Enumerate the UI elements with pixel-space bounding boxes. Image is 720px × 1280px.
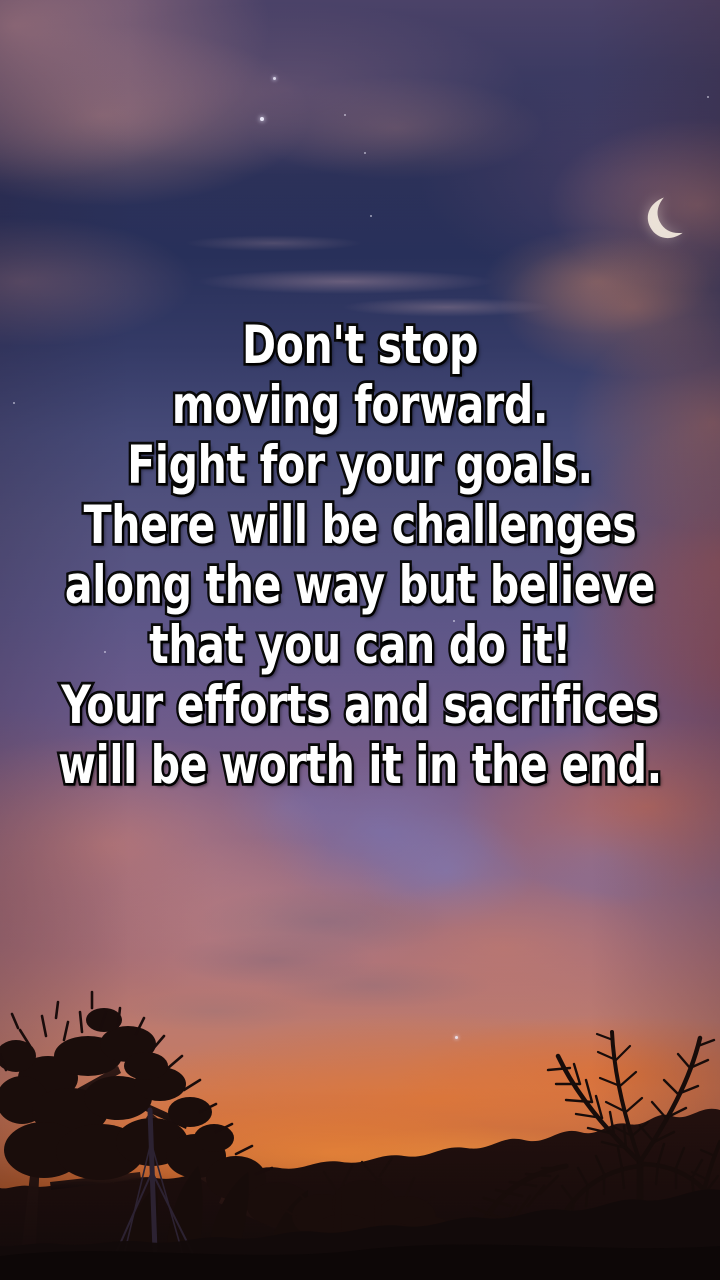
quote-line-5: along the way but believe [50,556,669,616]
quote-line-1: Don't stop [50,316,669,376]
quote-line-8: will be worth it in the end. [50,736,669,796]
quote-line-2: moving forward. [50,376,669,436]
wallpaper-canvas: Don't stop moving forward. Fight for you… [0,0,720,1280]
quote-line-3: Fight for your goals. [50,436,669,496]
quote-line-6: that you can do it! [50,616,669,676]
quote-text-block: Don't stop moving forward. Fight for you… [0,316,720,796]
quote-line-7: Your efforts and sacrifices [50,676,669,736]
quote-line-4: There will be challenges [50,496,669,556]
